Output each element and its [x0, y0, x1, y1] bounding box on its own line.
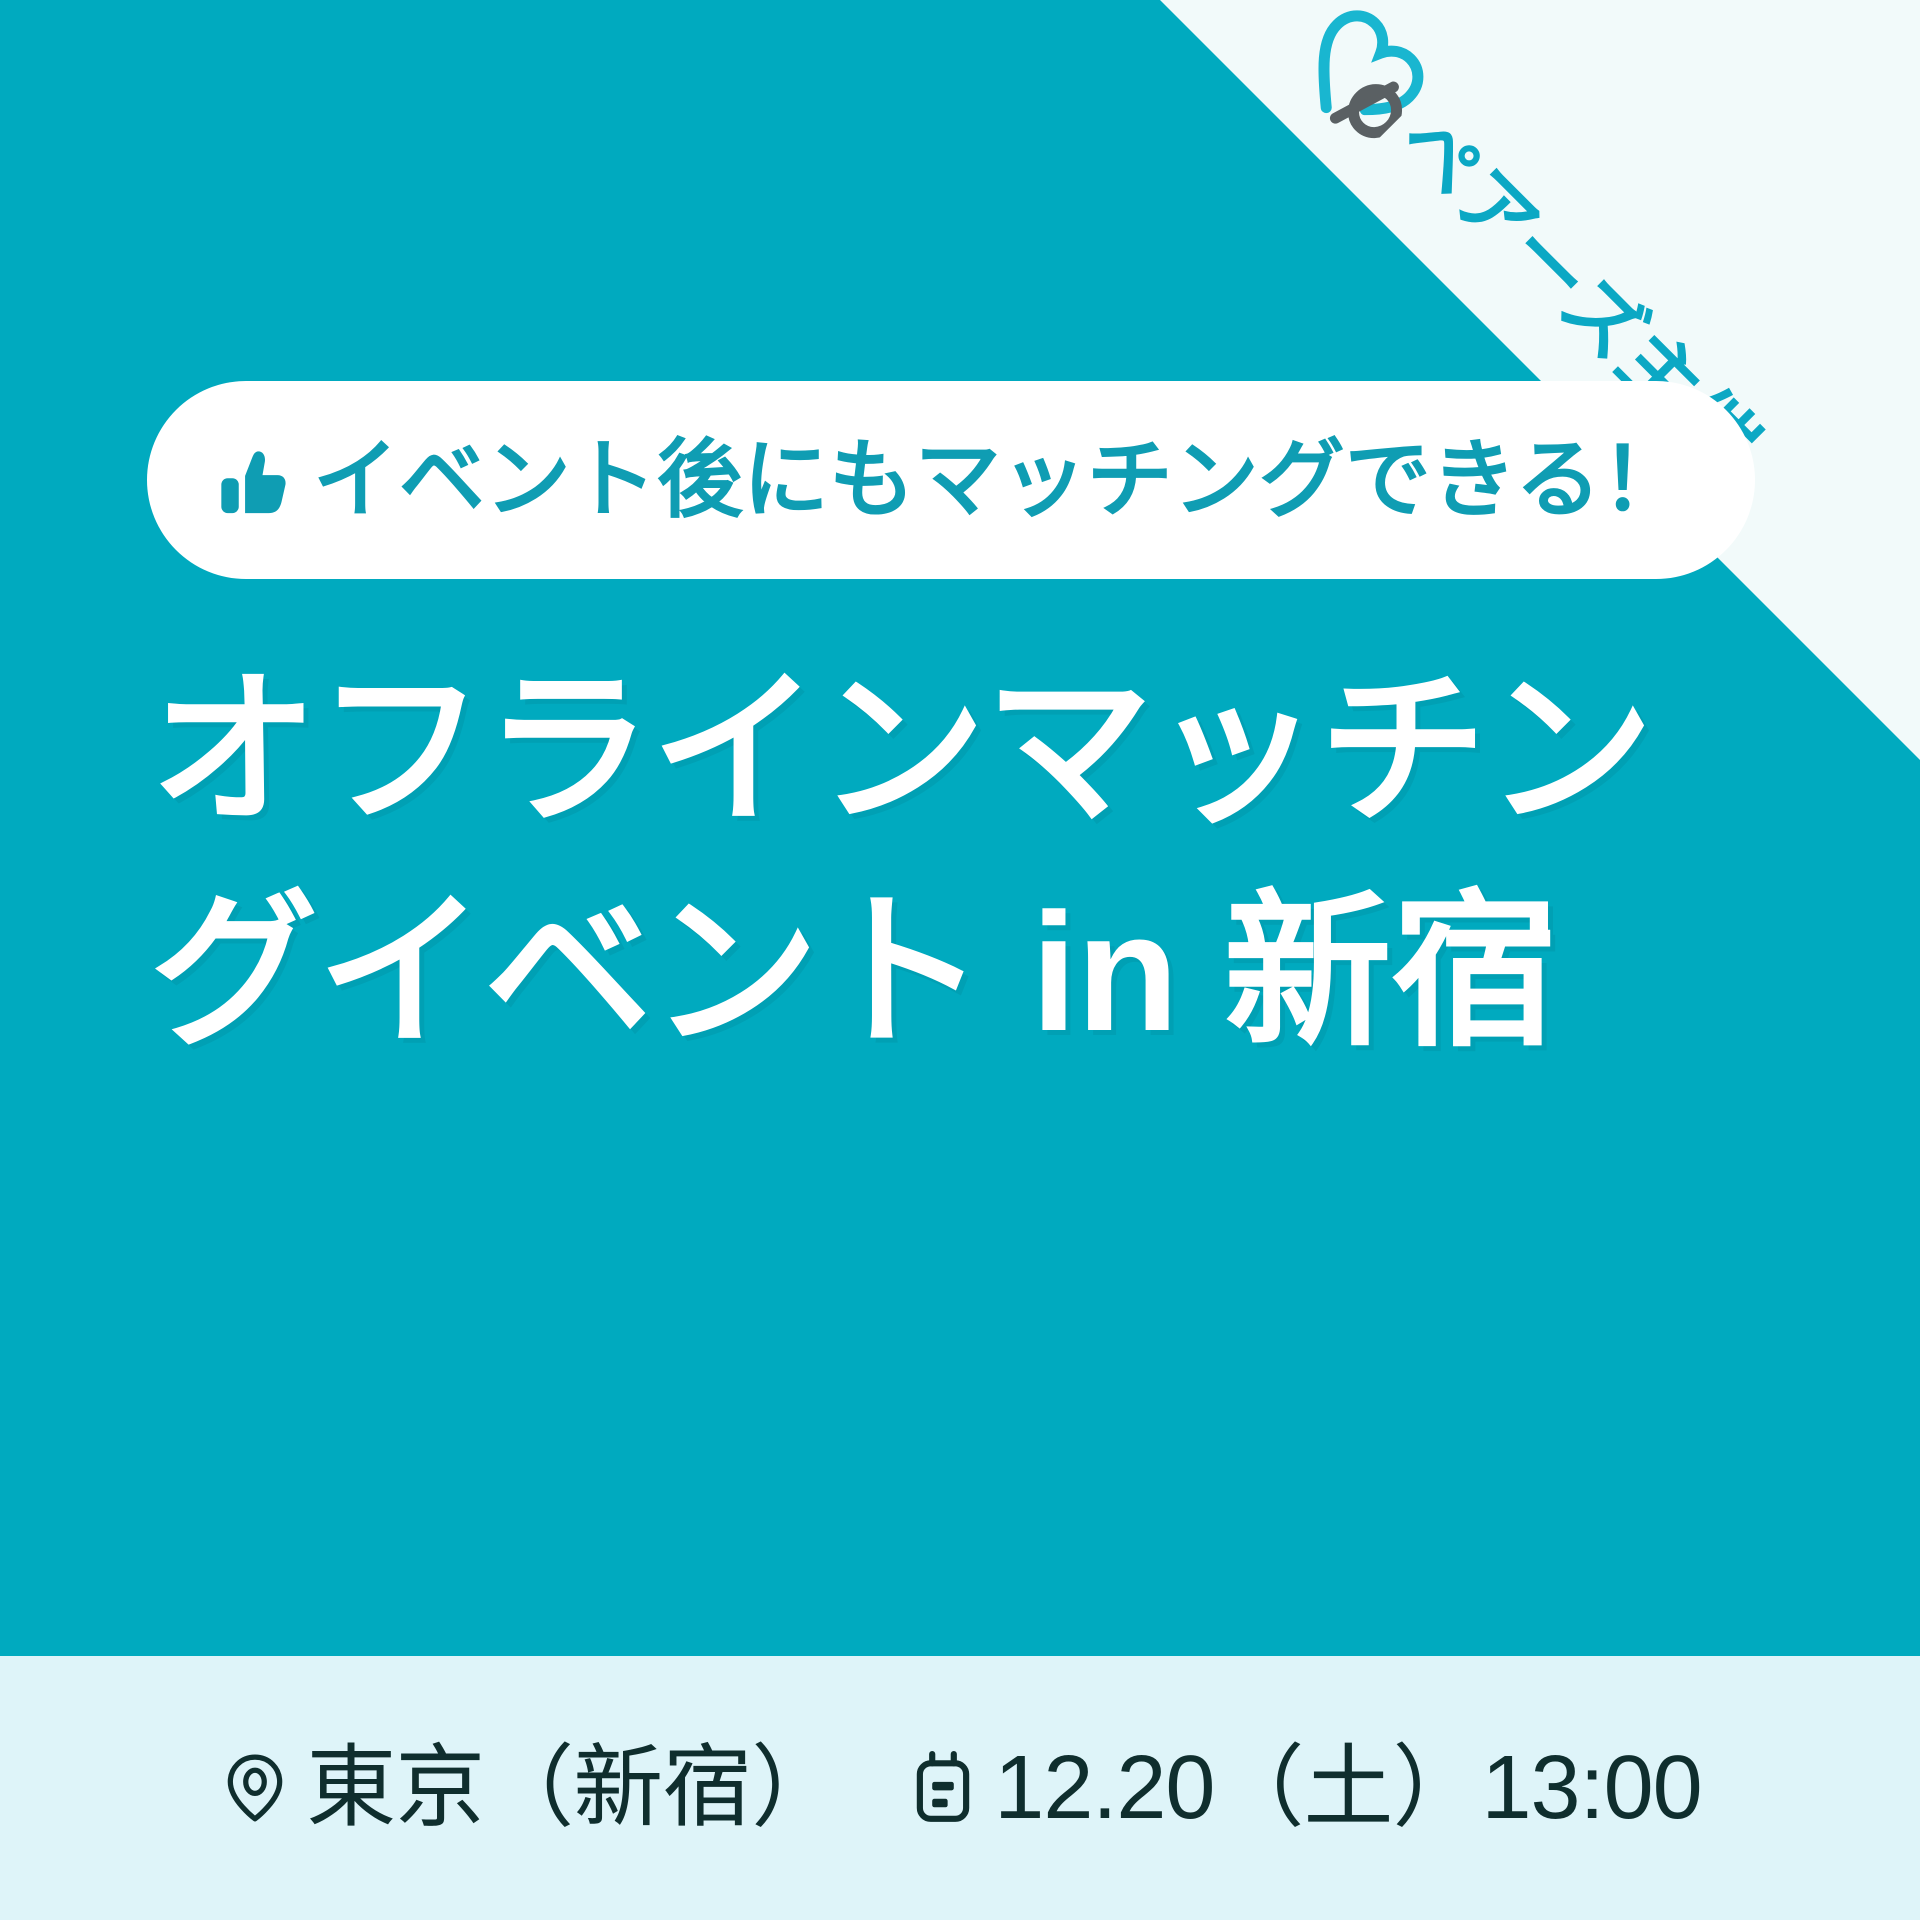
feature-badge: イベント後にもマッチングできる！	[147, 381, 1755, 579]
page-title: オフラインマッチングイベント in 新宿	[150, 640, 1790, 1084]
event-date-label: 12.20（土）13:00	[994, 1743, 1701, 1833]
heart-p-logo-icon	[1279, 0, 1440, 155]
thumbs-up-icon	[215, 445, 291, 521]
event-date: 12.20（土）13:00	[906, 1743, 1701, 1833]
event-location-label: 東京（新宿）	[306, 1743, 840, 1833]
event-location: 東京（新宿）	[218, 1743, 840, 1833]
event-meta-bar: 東京（新宿） 12.20（土）13:00	[0, 1656, 1920, 1920]
feature-badge-label: イベント後にもマッチングできる！	[313, 437, 1687, 523]
event-poster: ペアーズ主催 イベント後にもマッチングできる！ オフラインマッチングイベント i…	[0, 0, 1920, 1920]
calendar-icon	[906, 1751, 980, 1825]
location-pin-icon	[218, 1751, 292, 1825]
